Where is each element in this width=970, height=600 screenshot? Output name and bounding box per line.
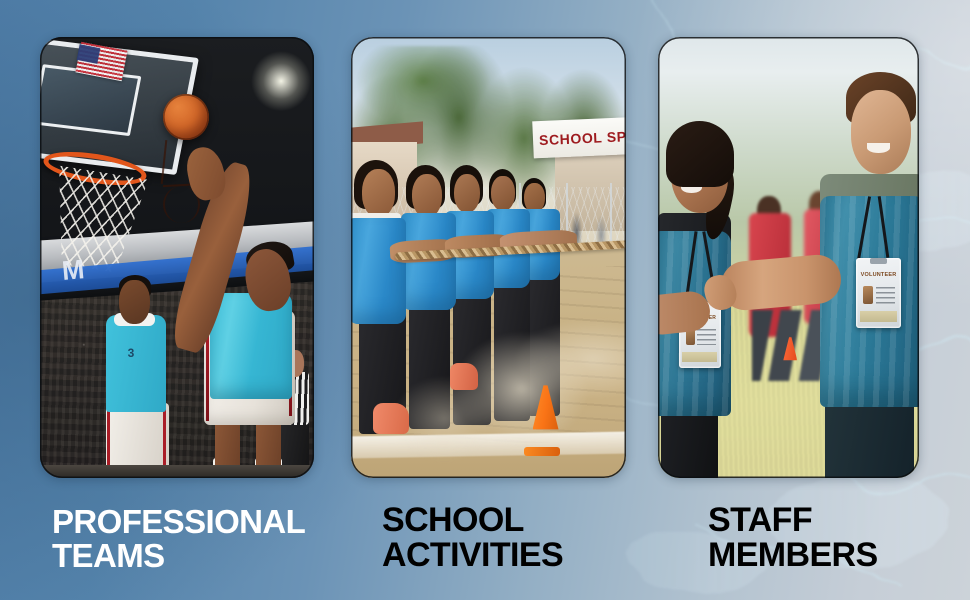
student-sneaker [450,363,478,389]
standing-player-number: 3 [128,346,135,360]
badge-footer-band [682,352,717,363]
standing-player-shorts-stripe-right [163,407,166,464]
male-staff-pants [825,399,914,478]
badge-photo [863,286,873,304]
caption-school-activities: SCHOOL ACTIVITIES [382,503,563,572]
badge-detail-lines [697,329,715,345]
panel-school-activities[interactable]: SCHOOL SP [351,37,626,478]
caption-professional-teams: PROFESSIONAL TEAMS [52,505,305,572]
american-flag-canton [77,44,100,64]
badge-footer-band [860,311,897,322]
scene-staff-volunteers: VOLUNTEER VOLUNTEER [658,37,919,478]
panel-professional-teams[interactable]: M 3 [40,37,314,478]
event-banner-text: SCHOOL SP [538,128,626,148]
standing-player-jersey [106,315,166,412]
student-sneaker [373,403,409,434]
caption-staff-members: STAFF MEMBERS [708,503,878,572]
male-staff-pointing-arm [719,252,843,311]
standing-player-shorts [106,403,169,469]
traffic-cone-base [524,447,560,456]
standing-player-shorts-stripe-left [107,407,110,464]
scene-tug-of-war: SCHOOL SP [351,37,626,478]
id-badge: VOLUNTEER [856,258,900,329]
female-staff-hair [666,121,734,187]
badge-title-text: VOLUNTEER [860,273,897,279]
event-banner: SCHOOL SP [532,116,626,158]
court-floor [40,465,314,478]
dust-cloud [351,280,626,478]
student-head [412,174,442,218]
male-staff-head [851,90,911,174]
badge-clip [870,258,888,264]
student-head [491,176,514,211]
student-head [362,169,395,218]
female-staff-pants [661,407,718,478]
court-logo-text: M [61,254,87,287]
scene-basketball-layup: M 3 [40,37,314,478]
standing-player-head [119,280,149,324]
panel-staff-members[interactable]: VOLUNTEER VOLUNTEER [658,37,919,478]
badge-detail-lines [876,287,896,304]
